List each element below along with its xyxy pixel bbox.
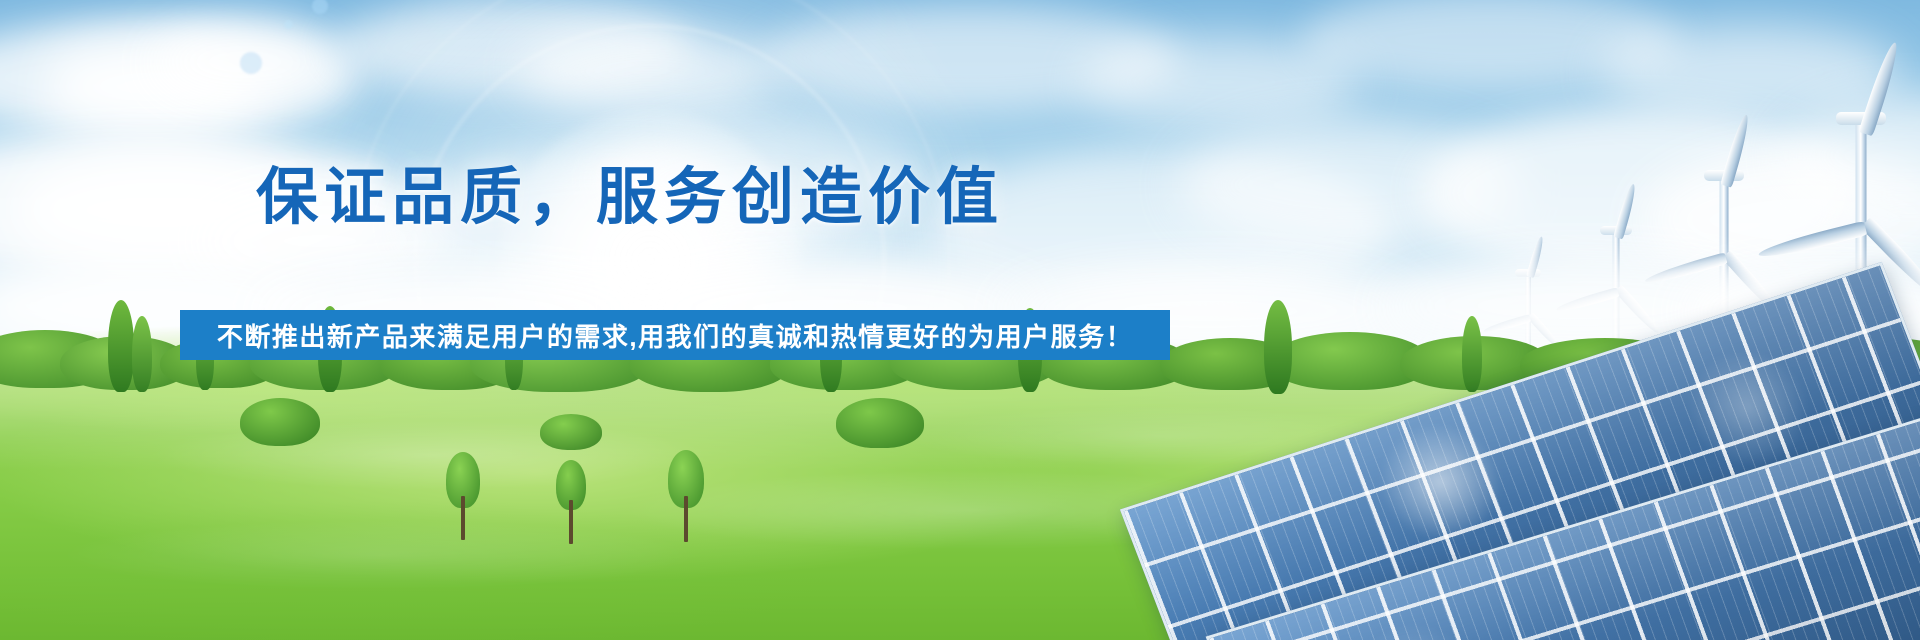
bush-midground — [540, 414, 602, 450]
solar-panel-array — [1190, 220, 1920, 640]
bush-midground — [240, 398, 320, 446]
tree-conifer — [132, 316, 152, 392]
bush-midground — [836, 398, 924, 448]
hero-banner: 保证品质，服务创造价值 不断推出新产品来满足用户的需求,用我们的真诚和热情更好的… — [0, 0, 1920, 640]
tree-conifer — [108, 300, 134, 392]
tree-sapling — [446, 452, 480, 508]
tree-sapling — [668, 450, 704, 508]
tree-sapling — [556, 460, 586, 510]
subtitle-bar: 不断推出新产品来满足用户的需求,用我们的真诚和热情更好的为用户服务！ — [180, 310, 1170, 360]
page-title: 保证品质，服务创造价值 — [0, 164, 1260, 232]
subtitle-text: 不断推出新产品来满足用户的需求,用我们的真诚和热情更好的为用户服务！ — [217, 317, 1133, 354]
